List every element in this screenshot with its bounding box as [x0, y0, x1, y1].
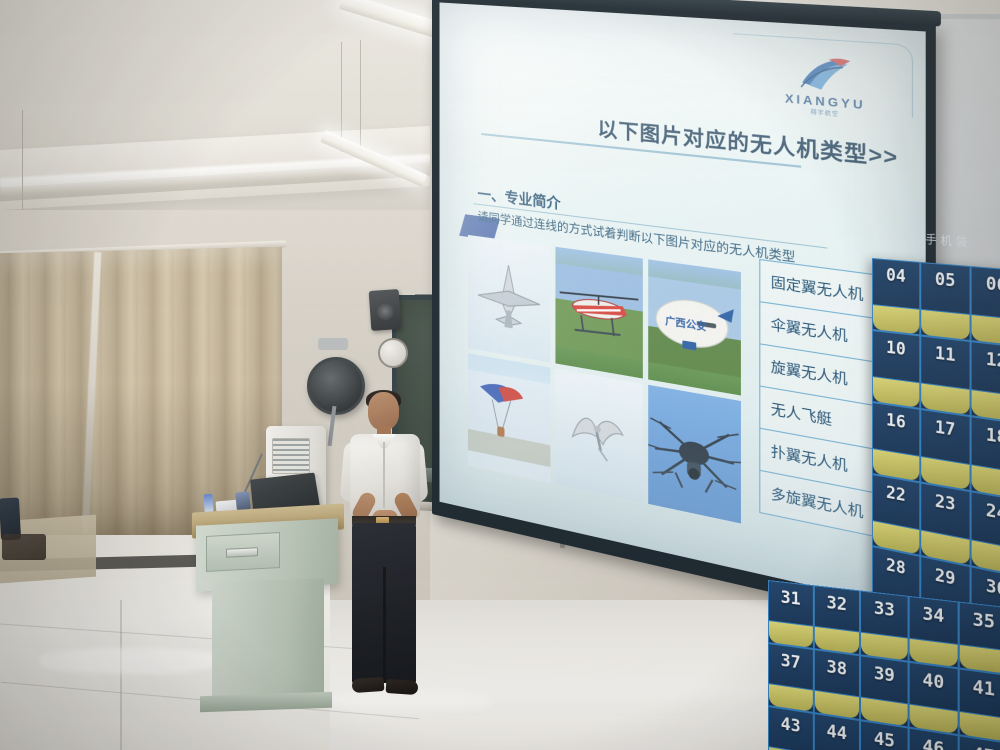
pocket-number: 45 [874, 728, 895, 750]
phone-pocket[interactable]: 31 [768, 580, 814, 649]
pocket-number: 22 [886, 482, 906, 506]
desk-bottle [203, 494, 213, 513]
slide-headline: 以下图片对应的无人机类型>> [598, 113, 899, 172]
floor-reflection [40, 648, 220, 674]
pocket-number: 29 [935, 565, 956, 590]
presenter [340, 392, 432, 702]
ac-grille-icon [272, 438, 310, 474]
image-airship-blimp: 广西公安 [648, 259, 741, 395]
pocket-number: 12 [986, 349, 1000, 373]
pocket-number: 30 [986, 576, 1000, 602]
phone-pocket[interactable]: 24 [971, 491, 1000, 577]
phone-pocket[interactable]: 23 [920, 482, 970, 566]
image-unmanned-helicopter [555, 247, 642, 378]
presenter-left-shoe [352, 677, 385, 693]
pocket-number: 10 [886, 338, 906, 361]
phone-pocket[interactable]: 35 [958, 602, 1000, 676]
light-wire [360, 40, 361, 152]
phone-pocket[interactable]: 18 [971, 416, 1000, 500]
pocket-number: 06 [986, 274, 1000, 297]
wing-emblem-icon [798, 53, 853, 96]
presenter-trouser-seam [383, 567, 386, 683]
pocket-number: 11 [935, 343, 956, 366]
presenter-right-shoe [386, 679, 419, 695]
wall-speaker [369, 289, 402, 331]
phone-pocket[interactable]: 32 [814, 585, 861, 655]
pocket-number: 46 [922, 736, 944, 750]
classroom-photo: XIANGYU 翔宇航空 以下图片对应的无人机类型>> 一、专业简介 请同学通过… [0, 0, 1000, 750]
phone-pocket[interactable]: 39 [860, 655, 908, 727]
xiangyu-logo: XIANGYU 翔宇航空 [768, 51, 883, 122]
pocket-flap [873, 304, 919, 334]
pocket-number: 47 [973, 744, 995, 750]
phone-pocket[interactable]: 11 [920, 335, 970, 416]
pocket-organizer-lower: 313233343536373839404142434445464748 [768, 580, 1000, 750]
pocket-number: 33 [874, 598, 895, 621]
image-fixed-wing-aircraft [468, 235, 550, 362]
pocket-number: 16 [886, 410, 906, 433]
pocket-number: 44 [827, 721, 848, 745]
phone-pocket[interactable]: 40 [909, 662, 959, 735]
pocket-number: 39 [874, 663, 895, 687]
phone-pocket[interactable]: 38 [814, 649, 861, 720]
light-wire [341, 42, 342, 152]
pocket-number: 18 [986, 425, 1000, 449]
pocket-number: 37 [781, 651, 801, 674]
light-wire [22, 110, 23, 210]
stacked-chair [2, 534, 46, 560]
pocket-flap [921, 309, 969, 340]
pocket-number: 40 [922, 670, 944, 694]
phone-pocket[interactable]: 41 [958, 668, 1000, 743]
drawer-handle[interactable] [226, 547, 258, 558]
pocket-flap [769, 746, 813, 750]
phone-pocket[interactable]: 33 [860, 590, 908, 661]
phone-pocket[interactable]: 05 [920, 262, 970, 341]
pocket-number: 41 [973, 677, 995, 701]
drone-image-grid: 广西公安 [468, 235, 741, 524]
floor-tile-line [120, 600, 122, 750]
pocket-number: 35 [973, 610, 995, 634]
pocket-number: 05 [935, 269, 956, 291]
pocket-number: 31 [781, 587, 801, 610]
phone-pocket[interactable]: 04 [872, 258, 920, 335]
phone-pocket[interactable]: 37 [768, 643, 814, 713]
pocket-number: 04 [886, 265, 906, 287]
phone-pocket[interactable]: 16 [872, 402, 920, 482]
phone-pocket[interactable]: 43 [768, 706, 814, 750]
phone-pocket[interactable]: 22 [872, 474, 920, 556]
pocket-number: 43 [781, 714, 801, 737]
pocket-number: 24 [986, 500, 1000, 525]
phone-pocket[interactable]: 44 [814, 713, 861, 750]
phone-pocket[interactable]: 34 [909, 596, 959, 668]
pocket-number: 17 [935, 417, 956, 441]
phone-pocket[interactable]: 06 [971, 266, 1000, 347]
image-flapping-wing-drone [555, 368, 642, 503]
pocket-number: 32 [827, 593, 848, 616]
fan-mount [318, 338, 348, 350]
presenter-head [368, 392, 399, 430]
phone-pocket[interactable]: 17 [920, 409, 970, 491]
pocket-number: 38 [827, 657, 848, 680]
lectern-column [212, 579, 324, 704]
desk-marker-box [235, 491, 251, 510]
image-multirotor-drone [648, 384, 741, 523]
presenter-shirt-placket [383, 442, 385, 508]
pocket-number: 23 [935, 491, 956, 515]
wall-clock [378, 338, 408, 368]
pocket-number: 28 [886, 555, 906, 579]
image-parafoil-drone [468, 353, 550, 483]
phone-pocket[interactable]: 10 [872, 330, 920, 409]
phone-pocket[interactable]: 12 [971, 341, 1000, 424]
pocket-number: 34 [922, 604, 944, 628]
